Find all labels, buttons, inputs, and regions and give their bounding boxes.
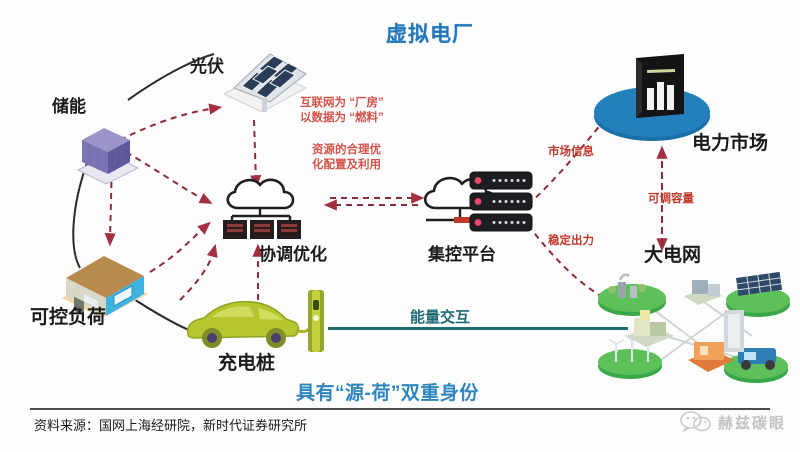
flow-label-adjustable-capacity: 可调容量 xyxy=(648,190,694,206)
node-label-market: 电力市场 xyxy=(692,128,768,155)
cloud-server-icon xyxy=(216,168,308,245)
node-label-platform: 集控平台 xyxy=(428,240,496,265)
note-resource-allocation: 资源的合理优 化配置及利用 xyxy=(312,143,381,173)
node-label-charger: 充电桩 xyxy=(218,348,275,375)
energy-exchange-line xyxy=(328,327,628,330)
link-load-coord xyxy=(150,226,206,272)
note-internet-factory: 互联网为 “厂房” 以数据为 “燃料” xyxy=(300,96,384,126)
flow-label-energy-exchange: 能量交互 xyxy=(410,306,470,327)
node-label-coord: 协调优化 xyxy=(259,240,327,265)
page-title: 虚拟电厂 xyxy=(386,18,474,48)
node-label-pv: 光伏 xyxy=(190,52,224,77)
solar-panel-icon xyxy=(212,48,312,131)
diagram-subtitle: 具有“源-荷”双重身份 xyxy=(296,378,479,405)
node-label-storage: 储能 xyxy=(52,92,86,117)
node-label-grid: 大电网 xyxy=(644,240,701,267)
battery-stack-icon xyxy=(70,118,142,193)
node-label-load: 可控负荷 xyxy=(30,302,106,329)
cloud-rack-icon xyxy=(414,164,536,245)
diagram-canvas: 虚拟电厂 储能 xyxy=(0,0,800,452)
flow-label-market-info: 市场信息 xyxy=(548,143,594,159)
flow-label-stable-output: 稳定出力 xyxy=(548,232,594,248)
